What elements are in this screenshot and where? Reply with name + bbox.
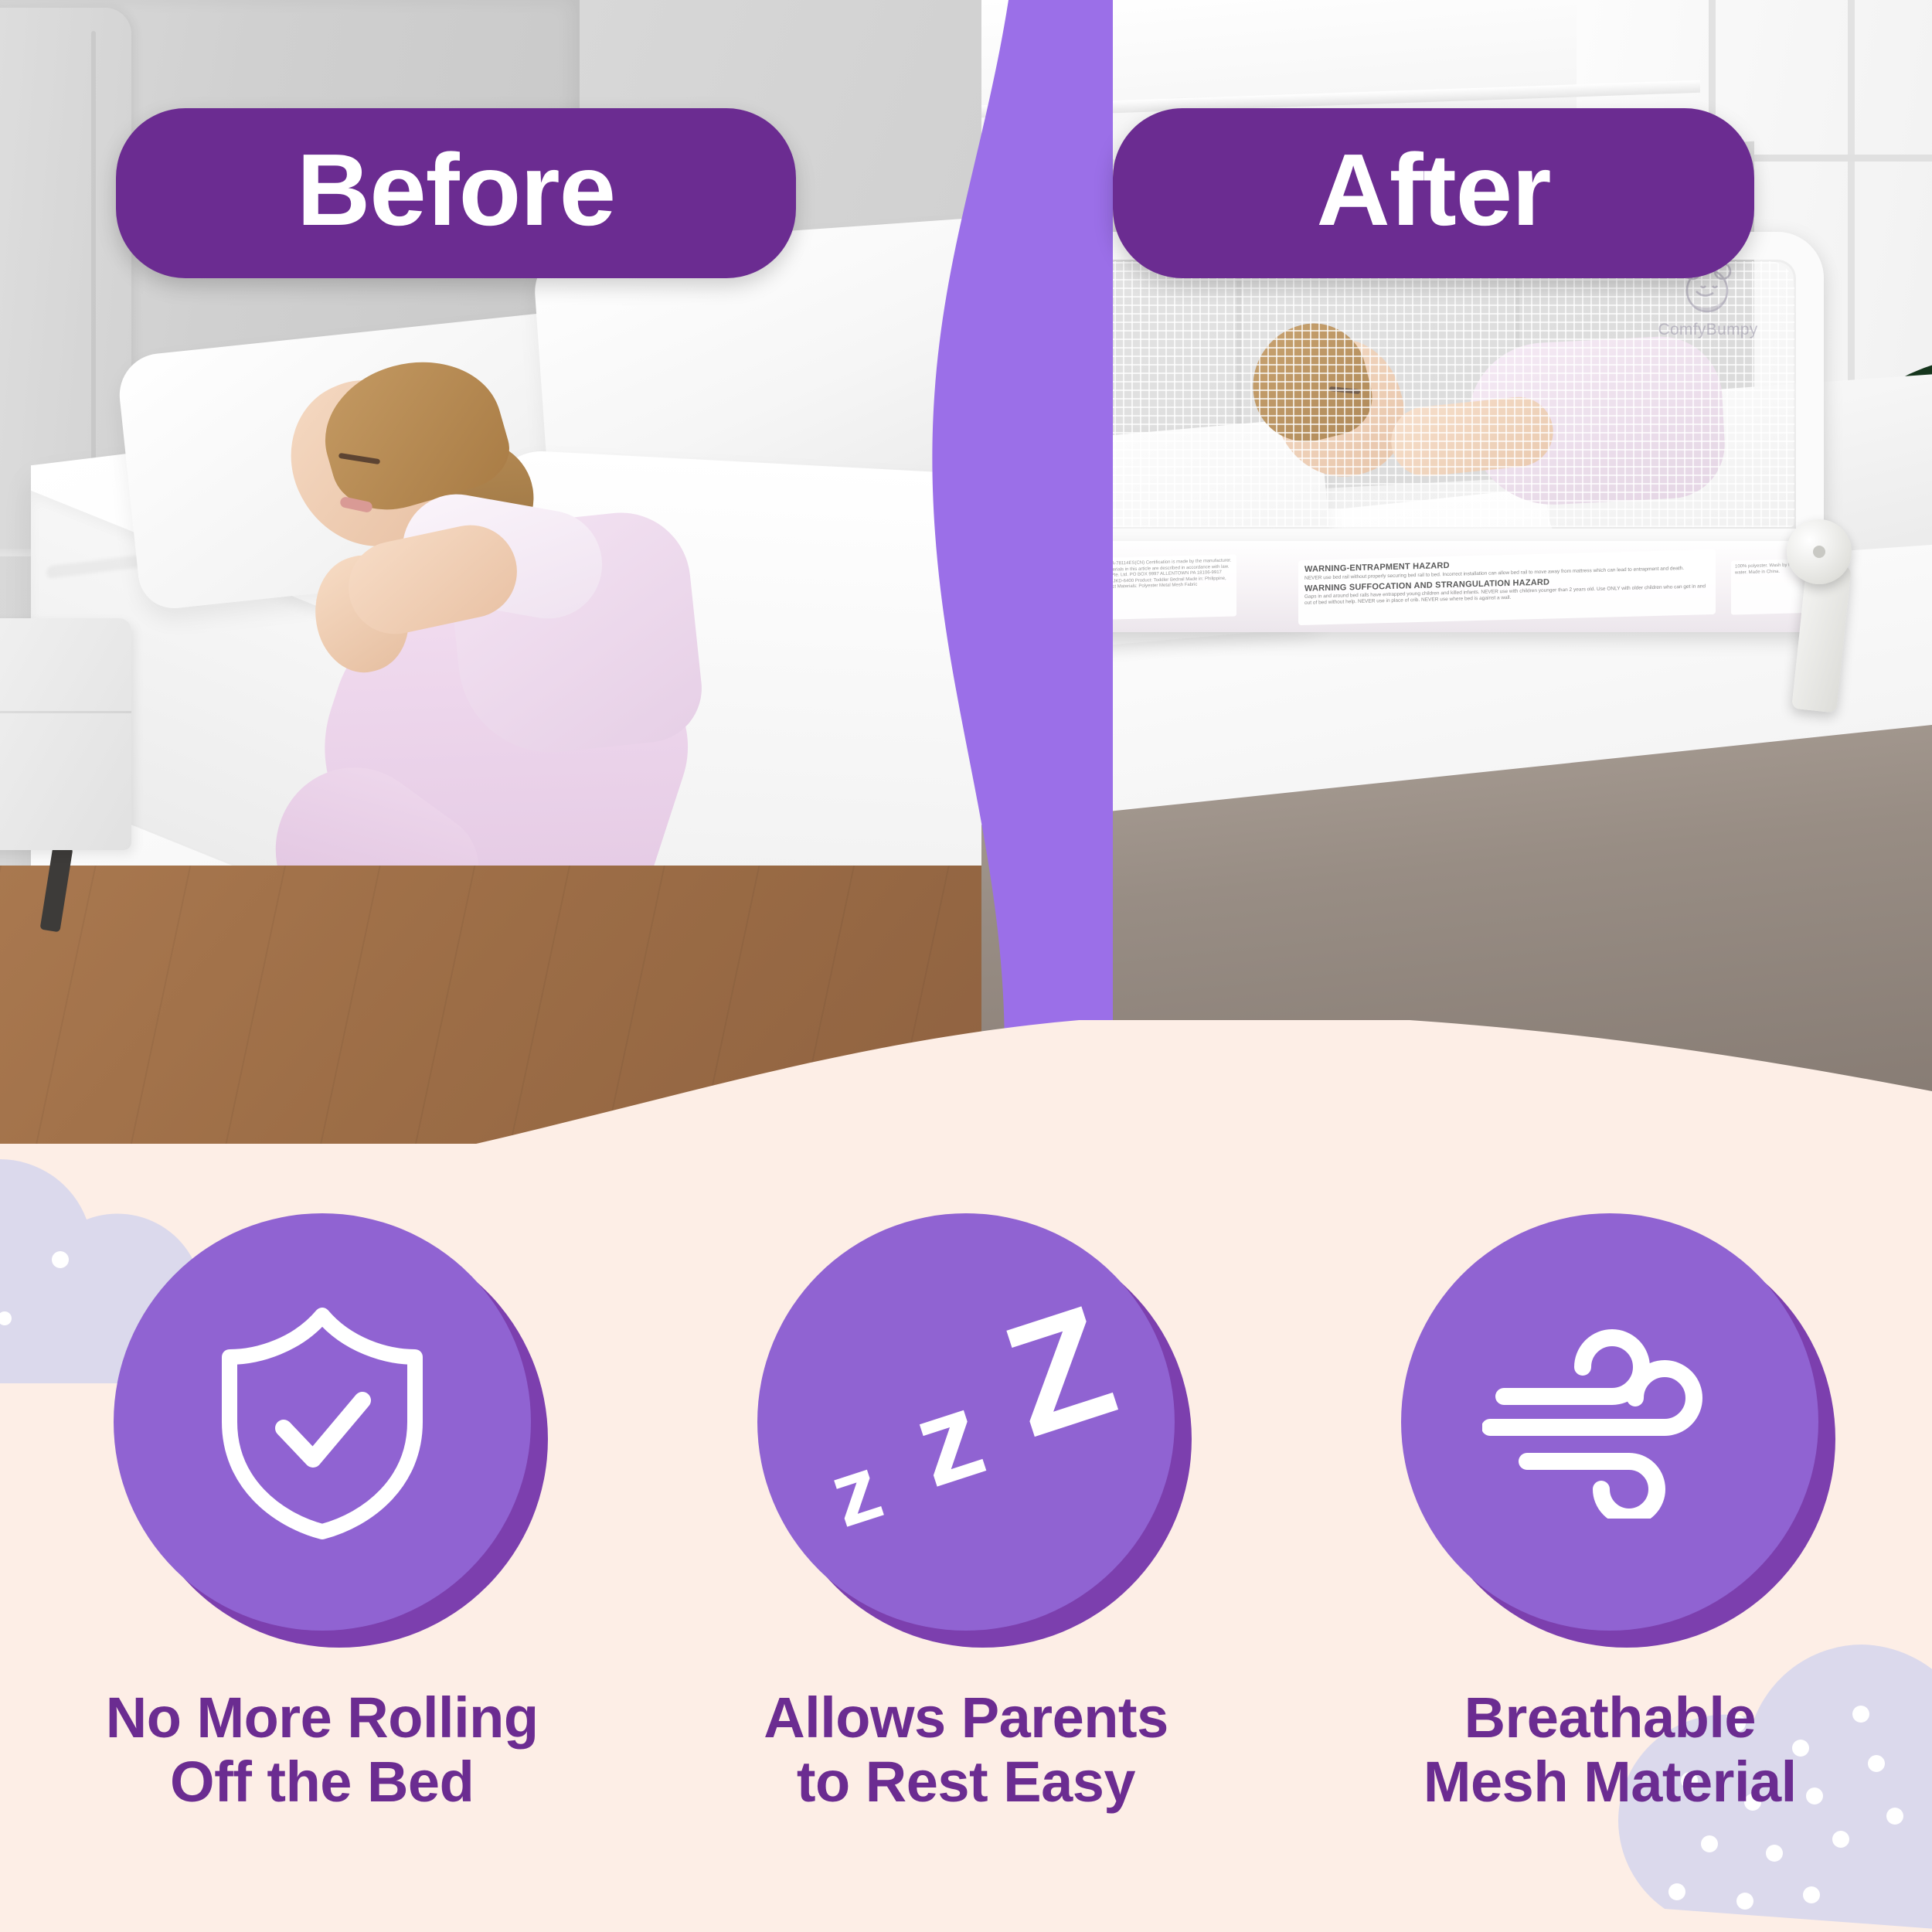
bed-rail-knob-left <box>1011 488 1076 553</box>
zzz-sleep-icon: z z Z <box>819 1294 1113 1549</box>
after-badge: After <box>1113 108 1754 278</box>
feature-item[interactable]: Breathable Mesh Material <box>1308 1213 1911 1815</box>
feature-icon-circle <box>1401 1213 1818 1631</box>
feature-caption-line1: No More Rolling <box>106 1686 539 1750</box>
feature-caption-line1: Allows Parents <box>764 1686 1168 1750</box>
bed-rail-warning-label: WARNING-ENTRAPMENT HAZARD NEVER use bed … <box>1298 549 1716 625</box>
feature-item[interactable]: z z Z Allows Parents to Rest Easy <box>665 1213 1267 1815</box>
nightstand <box>0 618 131 850</box>
bed-rail-left-label: REG. NO. PA-78114ES(CN) Certification is… <box>1082 554 1236 620</box>
before-badge: Before <box>116 108 796 278</box>
bed-rail-product: ComfyBumpy REG. NO. PA-78114ES(CN) Certi… <box>1051 232 1824 711</box>
feature-item[interactable]: No More Rolling Off the Bed <box>21 1213 624 1815</box>
zzz-letter-medium: z <box>901 1372 997 1507</box>
nightstand-drawer-line <box>0 711 131 713</box>
brand-name: ComfyBumpy <box>1638 321 1777 339</box>
zzz-letter-small: z <box>820 1441 892 1542</box>
feature-caption-line2: Off the Bed <box>106 1750 539 1815</box>
features-section: No More Rolling Off the Bed z z Z Allows… <box>0 1020 1932 1932</box>
after-badge-label: After <box>1316 139 1550 247</box>
feature-caption: No More Rolling Off the Bed <box>106 1686 539 1815</box>
left-label-text: REG. NO. PA-78114ES(CN) Certification is… <box>1087 559 1232 591</box>
bed-rail-knob-right <box>1787 519 1852 584</box>
zzz-letter-large: Z <box>988 1281 1130 1462</box>
shield-check-icon <box>206 1298 438 1546</box>
feature-icon-circle: z z Z <box>757 1213 1175 1631</box>
feature-caption-line2: Mesh Material <box>1423 1750 1797 1815</box>
wind-breathable-icon <box>1482 1325 1737 1519</box>
headboard-seam <box>91 31 96 526</box>
feature-caption-line2: to Rest Easy <box>764 1750 1168 1815</box>
feature-caption: Breathable Mesh Material <box>1423 1686 1797 1815</box>
infographic-canvas: ComfyBumpy REG. NO. PA-78114ES(CN) Certi… <box>0 0 1932 1932</box>
feature-caption-line1: Breathable <box>1423 1686 1797 1750</box>
feature-list: No More Rolling Off the Bed z z Z Allows… <box>0 1213 1932 1893</box>
feature-icon-circle <box>114 1213 531 1631</box>
before-badge-label: Before <box>297 139 615 247</box>
feature-caption: Allows Parents to Rest Easy <box>764 1686 1168 1815</box>
